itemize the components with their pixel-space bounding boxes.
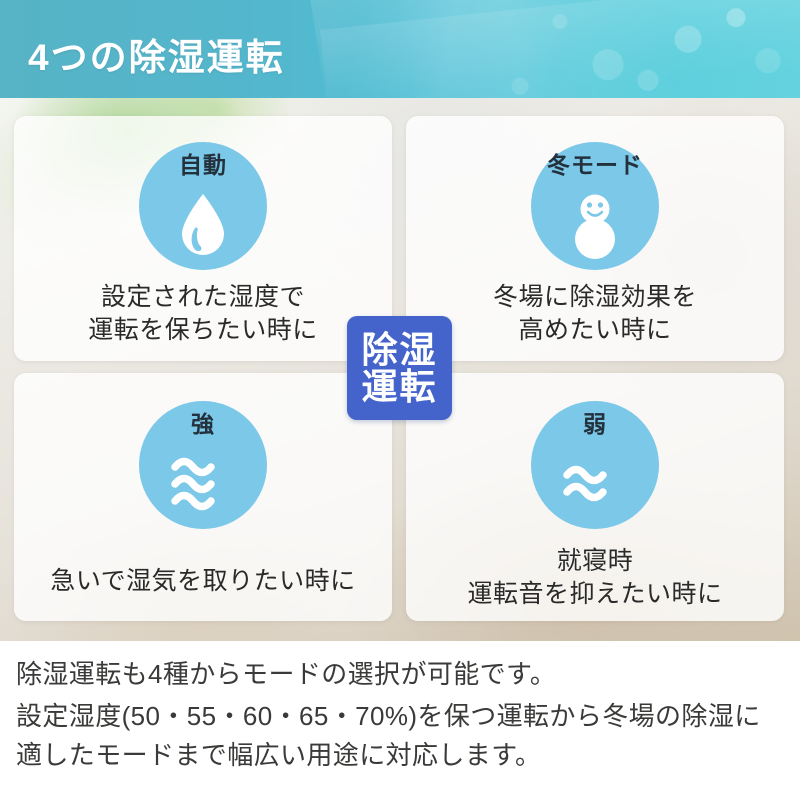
center-badge-line2: 運転 [361,368,437,405]
page-header: 4つの除湿運転 [0,0,800,98]
water-drop-icon [139,188,267,262]
footer-description: 除湿運転も4種からモードの選択が可能です。 設定湿度(50・55・60・65・7… [0,641,800,800]
double-wave-icon [531,447,659,521]
triple-wave-icon [139,447,267,521]
mode-label-weak: 弱 [531,413,659,436]
mode-card-strong[interactable]: 強 急いで湿気を取りたい時に [14,373,392,621]
mode-card-auto[interactable]: 自動 設定された湿度で 運転を保ちたい時に [14,116,392,361]
center-badge-line1: 除湿 [361,331,437,368]
mode-label-auto: 自動 [139,154,267,177]
page-title: 4つの除湿運転 [28,27,285,81]
mode-label-strong: 強 [139,413,267,436]
mode-caption-strong: 急いで湿気を取りたい時に [14,565,392,598]
mode-label-winter: 冬モード [531,154,659,177]
mode-circle-weak: 弱 [531,401,659,529]
header-light-sweep-secondary-icon [320,0,800,98]
mode-card-winter[interactable]: 冬モード 冬場に除湿効果を 高めたい時に [406,116,784,361]
mode-caption-weak: 就寝時 運転音を抑えたい時に [406,545,784,611]
header-light-sweep-icon [304,0,800,98]
center-badge-dehumidify: 除湿 運転 [347,316,452,420]
mode-caption-auto: 設定された湿度で 運転を保ちたい時に [14,281,392,347]
mode-circle-auto: 自動 [139,142,267,270]
mode-circle-strong: 強 [139,401,267,529]
mode-caption-winter: 冬場に除湿効果を 高めたい時に [406,281,784,347]
footer-line-2: 設定湿度(50・55・60・65・70%)を保つ運転から冬場の除湿に適したモード… [16,697,784,776]
mode-circle-winter: 冬モード [531,142,659,270]
infographic-page: 4つの除湿運転 自動 設定された湿度で 運転を保ちたい時に 冬モード [0,0,800,800]
snowman-icon [531,188,659,262]
footer-line-1: 除湿運転も4種からモードの選択が可能です。 [16,655,784,695]
mode-card-weak[interactable]: 弱 就寝時 運転音を抑えたい時に [406,373,784,621]
